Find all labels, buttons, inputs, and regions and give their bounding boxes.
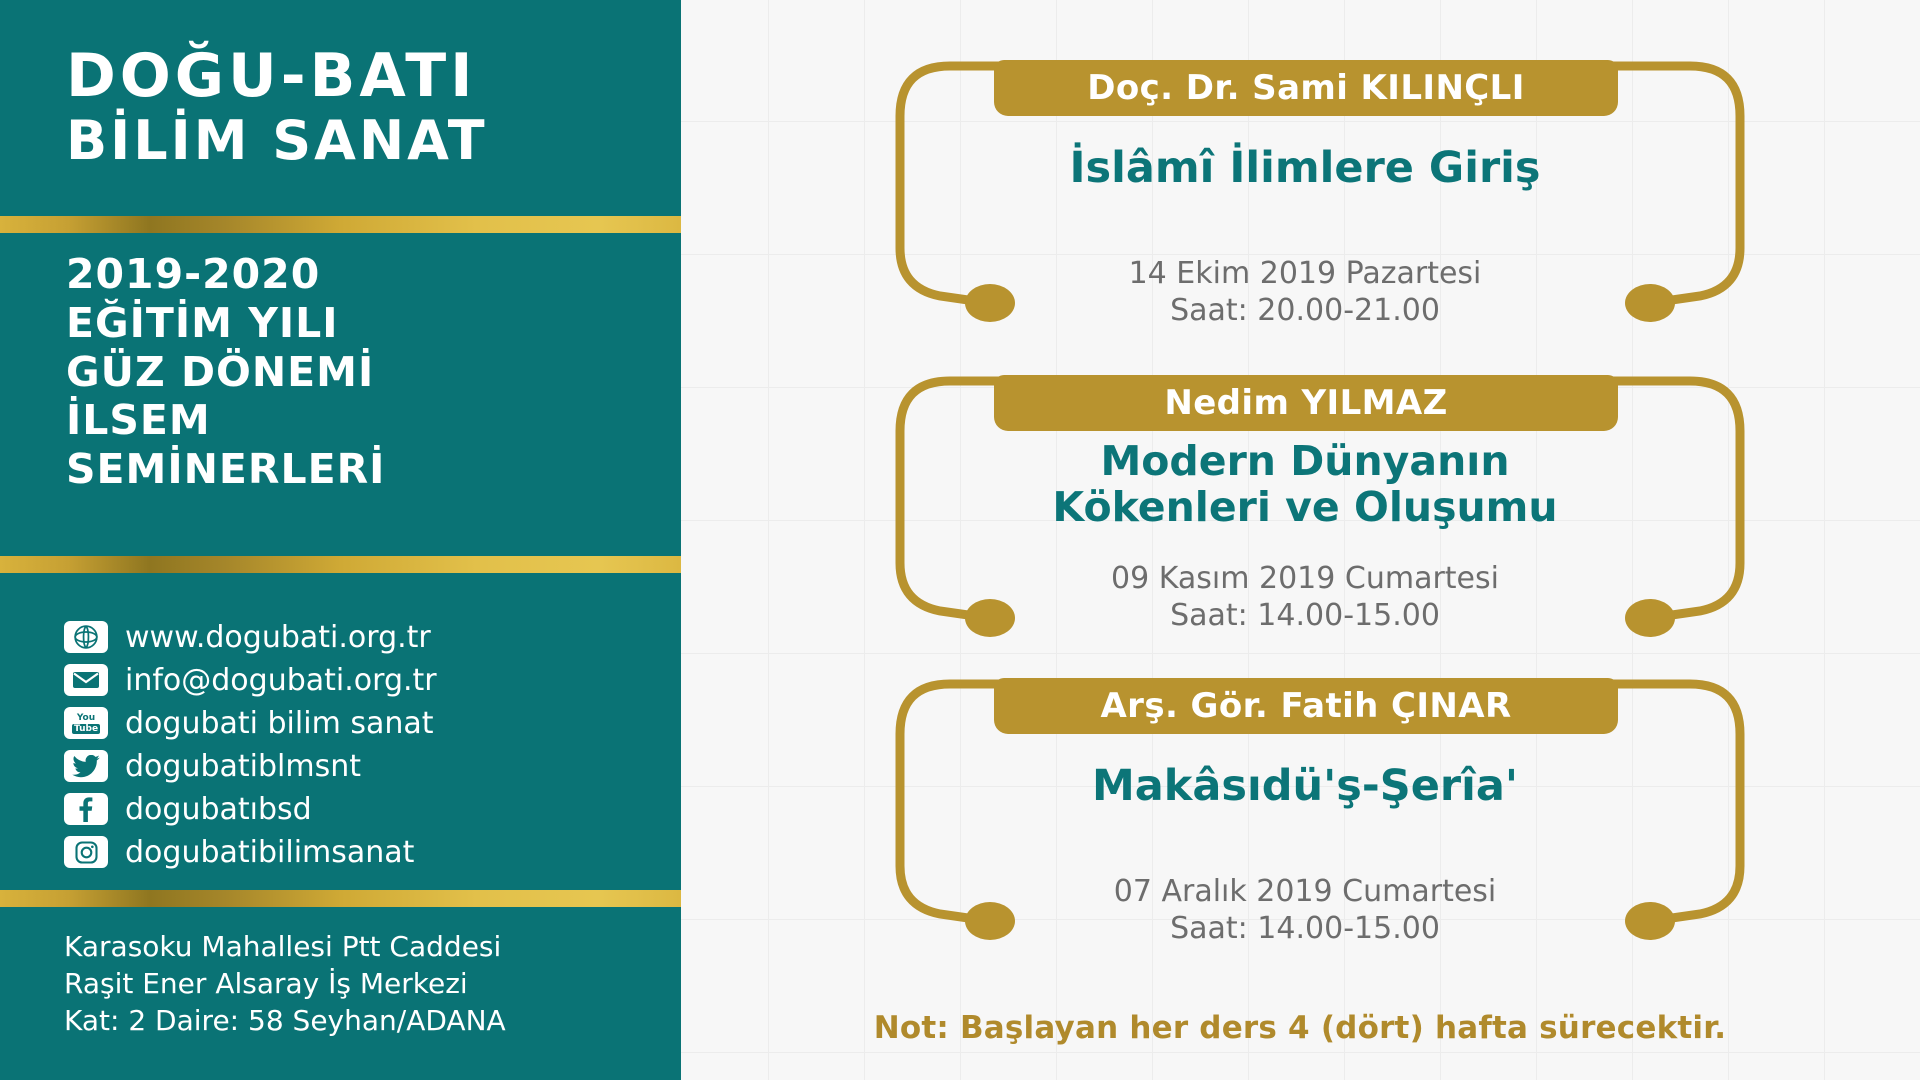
- contact-website: www.dogubati.org.tr: [125, 620, 431, 655]
- address-block: Karasoku Mahallesi Ptt Caddesi Raşit Ene…: [64, 928, 664, 1040]
- address-line-3: Kat: 2 Daire: 58 Seyhan/ADANA: [64, 1002, 664, 1039]
- speaker-name: Nedim YILMAZ: [1164, 383, 1447, 423]
- seminar-datetime: 14 Ekim 2019 Pazartesi Saat: 20.00-21.00: [870, 256, 1740, 329]
- seminar-datetime: 07 Aralık 2019 Cumartesi Saat: 14.00-15.…: [870, 874, 1740, 947]
- seminar-title: Makâsıdü'ş-Şerîa': [870, 762, 1740, 810]
- seminar-title-line-1: Modern Dünyanın: [870, 439, 1740, 485]
- envelope-icon: [64, 664, 108, 696]
- seminar-card[interactable]: Doç. Dr. Sami KILINÇLI İslâmî İlimlere G…: [870, 60, 1740, 310]
- contact-row-youtube[interactable]: YouTube dogubati bilim sanat: [64, 703, 664, 743]
- contact-facebook: dogubatıbsd: [125, 792, 312, 827]
- gold-divider-top: [0, 216, 681, 233]
- contact-youtube: dogubati bilim sanat: [125, 706, 434, 741]
- instagram-icon: [64, 836, 108, 868]
- gold-divider-middle: [0, 556, 681, 573]
- contact-list: www.dogubati.org.tr info@dogubati.org.tr…: [64, 617, 664, 875]
- seminar-card[interactable]: Arş. Gör. Fatih ÇINAR Makâsıdü'ş-Şerîa' …: [870, 678, 1740, 928]
- contact-email: info@dogubati.org.tr: [125, 663, 437, 698]
- seminar-time: Saat: 20.00-21.00: [870, 293, 1740, 330]
- season-line-1: 2019-2020: [66, 250, 646, 299]
- speaker-banner: Arş. Gör. Fatih ÇINAR: [994, 678, 1618, 734]
- seminar-date: 09 Kasım 2019 Cumartesi: [870, 561, 1740, 598]
- speaker-name: Arş. Gör. Fatih ÇINAR: [1100, 686, 1511, 726]
- season-heading: 2019-2020 EĞİTİM YILI GÜZ DÖNEMİ İLSEM S…: [66, 250, 646, 494]
- seminar-card-list: Doç. Dr. Sami KILINÇLI İslâmî İlimlere G…: [680, 0, 1920, 1080]
- speaker-name: Doç. Dr. Sami KILINÇLI: [1087, 68, 1525, 108]
- seminar-title-line-2: Kökenleri ve Oluşumu: [870, 485, 1740, 531]
- season-line-2: EĞİTİM YILI: [66, 299, 646, 348]
- seminar-title: İslâmî İlimlere Giriş: [870, 144, 1740, 192]
- sidebar: DOĞU-BATI BİLİM SANAT 2019-2020 EĞİTİM Y…: [0, 0, 681, 1080]
- brand-logotype: DOĞU-BATI BİLİM SANAT: [66, 46, 626, 168]
- contact-row-facebook[interactable]: dogubatıbsd: [64, 789, 664, 829]
- seminar-time: Saat: 14.00-15.00: [870, 911, 1740, 948]
- gold-divider-bottom: [0, 890, 681, 907]
- twitter-icon: [64, 750, 108, 782]
- seminar-card[interactable]: Nedim YILMAZ Modern Dünyanın Kökenleri v…: [870, 375, 1740, 625]
- speaker-banner: Doç. Dr. Sami KILINÇLI: [994, 60, 1618, 116]
- contact-twitter: dogubatiblmsnt: [125, 749, 361, 784]
- season-line-3: GÜZ DÖNEMİ: [66, 348, 646, 397]
- footnote: Not: Başlayan her ders 4 (dört) hafta sü…: [680, 1010, 1920, 1046]
- season-line-5: SEMİNERLERİ: [66, 445, 646, 494]
- contact-row-email[interactable]: info@dogubati.org.tr: [64, 660, 664, 700]
- contact-instagram: dogubatibilimsanat: [125, 835, 414, 870]
- seminar-title: Modern Dünyanın Kökenleri ve Oluşumu: [870, 439, 1740, 531]
- address-line-2: Raşit Ener Alsaray İş Merkezi: [64, 965, 664, 1002]
- speaker-banner: Nedim YILMAZ: [994, 375, 1618, 431]
- contact-row-instagram[interactable]: dogubatibilimsanat: [64, 832, 664, 872]
- brand-line-2: BİLİM SANAT: [66, 114, 626, 168]
- contact-row-website[interactable]: www.dogubati.org.tr: [64, 617, 664, 657]
- address-line-1: Karasoku Mahallesi Ptt Caddesi: [64, 928, 664, 965]
- globe-icon: [64, 621, 108, 653]
- seminar-time: Saat: 14.00-15.00: [870, 598, 1740, 635]
- brand-line-1: DOĞU-BATI: [66, 46, 626, 106]
- contact-row-twitter[interactable]: dogubatiblmsnt: [64, 746, 664, 786]
- seminar-date: 07 Aralık 2019 Cumartesi: [870, 874, 1740, 911]
- facebook-icon: [64, 793, 108, 825]
- seminar-datetime: 09 Kasım 2019 Cumartesi Saat: 14.00-15.0…: [870, 561, 1740, 634]
- youtube-icon: YouTube: [64, 707, 108, 739]
- poster-root: DOĞU-BATI BİLİM SANAT 2019-2020 EĞİTİM Y…: [0, 0, 1920, 1080]
- season-line-4: İLSEM: [66, 396, 646, 445]
- seminar-date: 14 Ekim 2019 Pazartesi: [870, 256, 1740, 293]
